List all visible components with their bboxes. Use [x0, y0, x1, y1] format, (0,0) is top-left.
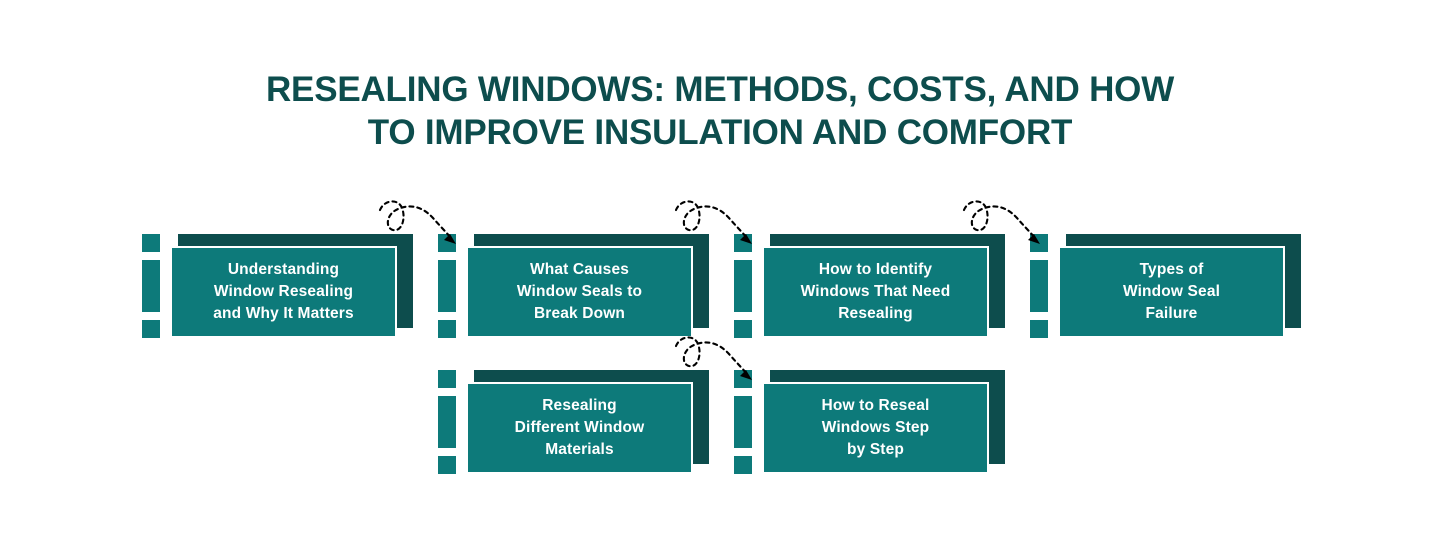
page-title: Resealing Windows: Methods, Costs, and H…: [220, 68, 1220, 154]
node-label: How to Reseal Windows Step by Step: [814, 395, 938, 461]
arrow-head-icon: [1028, 234, 1040, 244]
flow-arrow-arrow-3-to-4: [962, 196, 1052, 252]
page-title-line-1: Resealing Windows: Methods, Costs, and H…: [220, 68, 1220, 111]
flow-node-types-of-window-seal-failure[interactable]: Types of Window Seal Failure: [1028, 234, 1293, 338]
decoration-bar-icon: [1030, 260, 1048, 312]
decoration-square-bottom-icon: [438, 456, 456, 474]
flow-node-resealing-different-window-materials[interactable]: Resealing Different Window Materials: [436, 370, 701, 474]
node-left-decoration: [436, 370, 458, 474]
node-panel[interactable]: What Causes Window Seals to Break Down: [466, 246, 693, 338]
page-title-line-2: to Improve Insulation and Comfort: [220, 111, 1220, 154]
node-label: How to Identify Windows That Need Reseal…: [793, 259, 959, 325]
node-label: Resealing Different Window Materials: [507, 395, 653, 461]
node-panel[interactable]: Types of Window Seal Failure: [1058, 246, 1285, 338]
flow-arrow-arrow-5-to-6: [674, 332, 764, 388]
node-panel[interactable]: How to Reseal Windows Step by Step: [762, 382, 989, 474]
arrow-curl-path: [380, 201, 451, 238]
decoration-bar-icon: [438, 396, 456, 448]
flow-arrow-arrow-1-to-2: [378, 196, 468, 252]
flow-arrow-arrow-2-to-3: [674, 196, 764, 252]
decoration-square-bottom-icon: [142, 320, 160, 338]
node-panel[interactable]: Understanding Window Resealing and Why I…: [170, 246, 397, 338]
node-label: What Causes Window Seals to Break Down: [509, 259, 650, 325]
node-panel[interactable]: How to Identify Windows That Need Reseal…: [762, 246, 989, 338]
flow-node-how-to-reseal-windows-step-by-step[interactable]: How to Reseal Windows Step by Step: [732, 370, 997, 474]
arrow-curl-path: [676, 337, 747, 374]
decoration-square-bottom-icon: [1030, 320, 1048, 338]
decoration-square-bottom-icon: [438, 320, 456, 338]
decoration-square-top-icon: [142, 234, 160, 252]
flow-node-what-causes-window-seals-to-break-down[interactable]: What Causes Window Seals to Break Down: [436, 234, 701, 338]
decoration-square-bottom-icon: [734, 456, 752, 474]
node-label: Understanding Window Resealing and Why I…: [205, 259, 362, 325]
decoration-bar-icon: [734, 396, 752, 448]
decoration-square-top-icon: [438, 370, 456, 388]
arrow-head-icon: [740, 370, 752, 380]
node-panel[interactable]: Resealing Different Window Materials: [466, 382, 693, 474]
flowchart-canvas: Resealing Windows: Methods, Costs, and H…: [0, 0, 1440, 548]
arrow-head-icon: [444, 234, 456, 244]
decoration-bar-icon: [438, 260, 456, 312]
decoration-bar-icon: [734, 260, 752, 312]
arrow-head-icon: [740, 234, 752, 244]
decoration-bar-icon: [142, 260, 160, 312]
arrow-curl-path: [676, 201, 747, 238]
arrow-curl-path: [964, 201, 1035, 238]
flow-node-how-to-identify-windows-that-need-resealing[interactable]: How to Identify Windows That Need Reseal…: [732, 234, 997, 338]
flow-node-understanding-window-resealing[interactable]: Understanding Window Resealing and Why I…: [140, 234, 405, 338]
node-left-decoration: [140, 234, 162, 338]
node-label: Types of Window Seal Failure: [1115, 259, 1228, 325]
